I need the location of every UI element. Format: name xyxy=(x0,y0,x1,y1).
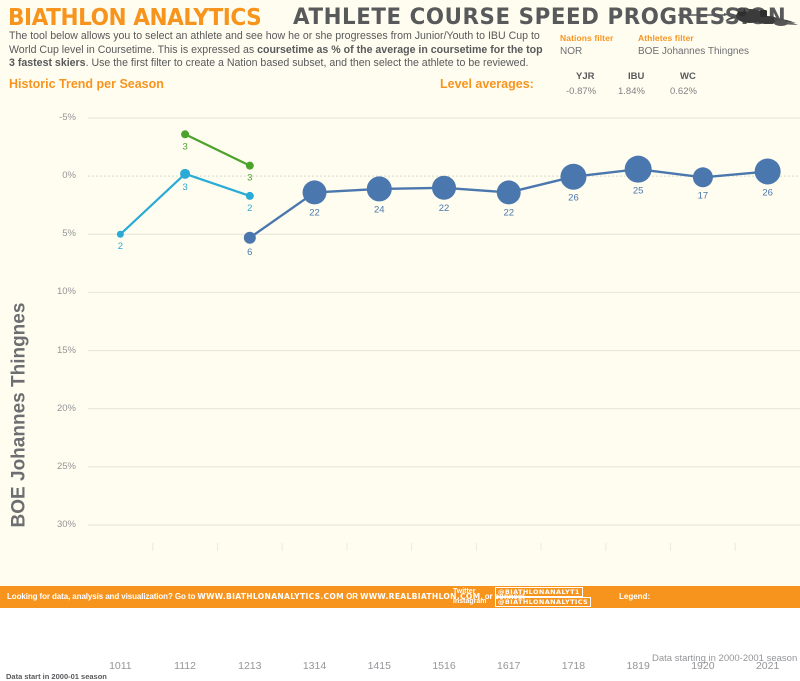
level-value-yjr: -0.87% xyxy=(566,86,618,97)
x-axis-tick: 1415 xyxy=(349,660,409,672)
footer-promo-text: Looking for data, analysis and visualiza… xyxy=(7,592,525,601)
level-cell-yjr: YJR -0.87% xyxy=(566,71,618,97)
data-point-label: 24 xyxy=(374,204,385,215)
note-data-start-left: Data start in 2000-01 season xyxy=(6,672,107,681)
level-value-ibu: 1.84% xyxy=(618,86,670,97)
note-data-start-right: Data starting in 2000-2001 season xyxy=(652,653,797,664)
data-point xyxy=(625,156,652,183)
footer-text-a: Looking for data, analysis and visualiza… xyxy=(7,592,197,601)
instagram-row: Instagram @BIATHLONANALYTICS xyxy=(453,597,591,607)
y-axis-label-text: BOE Johannes Thingnes xyxy=(8,303,30,528)
data-point-label: 22 xyxy=(503,207,514,218)
instagram-handle[interactable]: @BIATHLONANALYTICS xyxy=(495,597,591,607)
data-point xyxy=(246,162,254,170)
data-point-label: 3 xyxy=(182,182,187,193)
y-axis-tick: 15% xyxy=(36,345,76,356)
level-name-yjr: YJR xyxy=(566,71,618,82)
legend-label: Legend: xyxy=(619,592,650,601)
footer-text-b: OR xyxy=(344,592,360,601)
chart-plot[interactable]: 3323262224222226251726 xyxy=(88,100,800,586)
level-name-wc: WC xyxy=(670,71,722,82)
level-cell-ibu: IBU 1.84% xyxy=(618,71,670,97)
y-axis-label: BOE Johannes Thingnes xyxy=(4,250,34,580)
data-point xyxy=(560,164,586,190)
data-point-label: 22 xyxy=(439,203,450,214)
description-paragraph: The tool below allows you to select an a… xyxy=(9,30,549,71)
data-point xyxy=(244,232,256,244)
level-averages-label: Level averages: xyxy=(440,77,534,91)
data-point xyxy=(497,180,521,204)
footer-link-biathlonanalytics[interactable]: WWW.BIATHLONANALYTICS.COM xyxy=(197,592,344,601)
social-handles: Twitter @BIATHLONANALYT1 Instagram @BIAT… xyxy=(453,587,591,607)
athletes-filter-value[interactable]: BOE Johannes Thingnes xyxy=(638,46,798,57)
data-point-label: 25 xyxy=(633,186,644,197)
data-point xyxy=(693,167,713,187)
x-axis-tick: 1718 xyxy=(543,660,603,672)
data-point-label: 2 xyxy=(118,241,123,252)
level-averages-values: YJR -0.87% IBU 1.84% WC 0.62% xyxy=(566,71,786,99)
x-axis-tick: 1112 xyxy=(155,660,215,672)
data-point xyxy=(432,176,456,200)
nations-filter-value[interactable]: NOR xyxy=(560,46,638,57)
data-point-label: 26 xyxy=(568,193,579,204)
y-axis-tick: 20% xyxy=(36,403,76,414)
footer-bar: Looking for data, analysis and visualiza… xyxy=(0,586,800,608)
chart-section-title: Historic Trend per Season xyxy=(9,77,164,91)
nations-filter-label: Nations filter xyxy=(560,33,638,43)
filters-panel: Nations filter NOR Athletes filter BOE J… xyxy=(560,33,800,57)
data-point-label: 6 xyxy=(247,247,252,258)
series-ibu: 232 xyxy=(117,169,254,252)
twitter-label: Twitter xyxy=(453,587,495,597)
chart-area: BOE Johannes Thingnes 332326222422222625… xyxy=(0,100,800,586)
data-point xyxy=(180,169,190,179)
data-point-label: 2 xyxy=(247,203,252,214)
y-axis-tick: 25% xyxy=(36,461,76,472)
data-point-label: 3 xyxy=(247,173,252,184)
data-point xyxy=(246,192,254,200)
bottom-strip xyxy=(0,608,800,618)
data-point-label: 17 xyxy=(698,190,709,201)
twitter-handle[interactable]: @BIATHLONANALYT1 xyxy=(495,587,583,597)
page-header: BIATHLON ANALYTICS ATHLETE COURSE SPEED … xyxy=(0,0,800,100)
data-point xyxy=(181,130,189,138)
data-point xyxy=(755,158,781,184)
athletes-filter-label: Athletes filter xyxy=(638,33,798,43)
x-axis-tick: 1617 xyxy=(479,660,539,672)
level-name-ibu: IBU xyxy=(618,71,670,82)
series-wc: 62224222226251726 xyxy=(244,156,781,258)
x-axis-tick: 1516 xyxy=(414,660,474,672)
x-axis-tick: 1213 xyxy=(220,660,280,672)
instagram-label: Instagram xyxy=(453,597,495,607)
data-point-label: 22 xyxy=(309,207,320,218)
brand-title: BIATHLON ANALYTICS xyxy=(8,6,261,30)
twitter-row: Twitter @BIATHLONANALYT1 xyxy=(453,587,591,597)
data-point-label: 3 xyxy=(182,141,187,152)
y-axis-tick: 0% xyxy=(36,170,76,181)
y-axis-tick: -5% xyxy=(36,112,76,123)
athletes-filter[interactable]: Athletes filter BOE Johannes Thingnes xyxy=(638,33,798,57)
y-axis-tick: 5% xyxy=(36,228,76,239)
data-point xyxy=(303,180,327,204)
prone-biathlete-shooter-icon xyxy=(678,0,798,30)
nations-filter[interactable]: Nations filter NOR xyxy=(560,33,638,57)
level-cell-wc: WC 0.62% xyxy=(670,71,722,97)
y-axis-tick: 30% xyxy=(36,519,76,530)
data-point xyxy=(117,231,124,238)
x-axis-tick: 1314 xyxy=(285,660,345,672)
data-point xyxy=(367,176,392,201)
data-point-label: 26 xyxy=(762,187,773,198)
x-axis-tick: 1011 xyxy=(90,660,150,672)
series-line xyxy=(185,134,250,165)
description-part-2: . Use the first filter to create a Natio… xyxy=(86,57,529,69)
level-value-wc: 0.62% xyxy=(670,86,722,97)
y-axis-tick: 10% xyxy=(36,286,76,297)
